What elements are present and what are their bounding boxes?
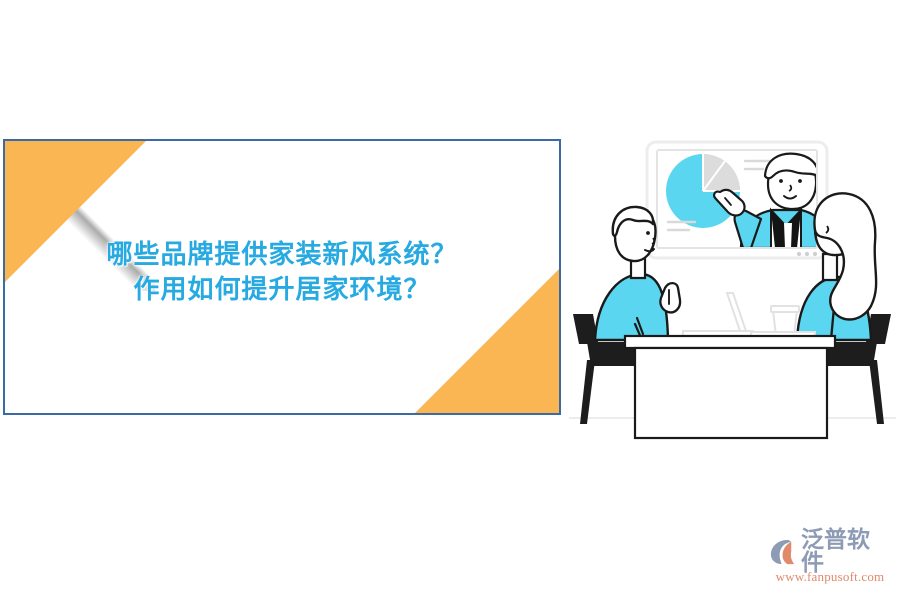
presenter-eye-left	[779, 179, 783, 183]
meeting-table	[625, 336, 835, 438]
headline-line-1: 哪些品牌提供家装新风系统？	[5, 237, 559, 272]
banner-card: 哪些品牌提供家装新风系统？ 作用如何提升居家环境？	[3, 139, 561, 415]
person-right-neck	[823, 254, 837, 280]
laptop-screen	[727, 293, 747, 334]
banner-headline: 哪些品牌提供家装新风系统？ 作用如何提升居家环境？	[5, 237, 559, 307]
table-front-panel	[635, 348, 827, 438]
person-left-eye	[646, 231, 650, 235]
desk-items	[683, 293, 815, 338]
illustration-canvas	[565, 128, 900, 463]
chair-left-seat-edge	[589, 360, 639, 365]
headline-line-2: 作用如何提升居家环境？	[5, 272, 559, 307]
logo-row: 泛普软件	[768, 535, 892, 568]
presenter-tie	[784, 223, 792, 248]
wall-display	[647, 142, 829, 258]
chair-right-front-leg	[869, 360, 884, 424]
chair-left-front-leg	[580, 360, 595, 424]
person-left-hand	[660, 283, 680, 312]
logo-website-url: www.fanpusoft.com	[768, 569, 892, 585]
logo-brand-name: 泛普软件	[801, 529, 892, 575]
chair-right-seat-edge	[825, 360, 875, 365]
table-top	[625, 336, 835, 348]
person-left-torso	[595, 274, 668, 340]
logo-mark-arc-inner	[783, 542, 795, 564]
cup-lid	[771, 306, 799, 312]
presenter-eye-right	[798, 179, 802, 183]
brand-logo: 泛普软件 www.fanpusoft.com	[768, 535, 892, 587]
fanpu-logo-mark-icon	[768, 536, 799, 567]
video-conference-illustration	[565, 128, 900, 463]
display-status-dots	[797, 252, 817, 256]
